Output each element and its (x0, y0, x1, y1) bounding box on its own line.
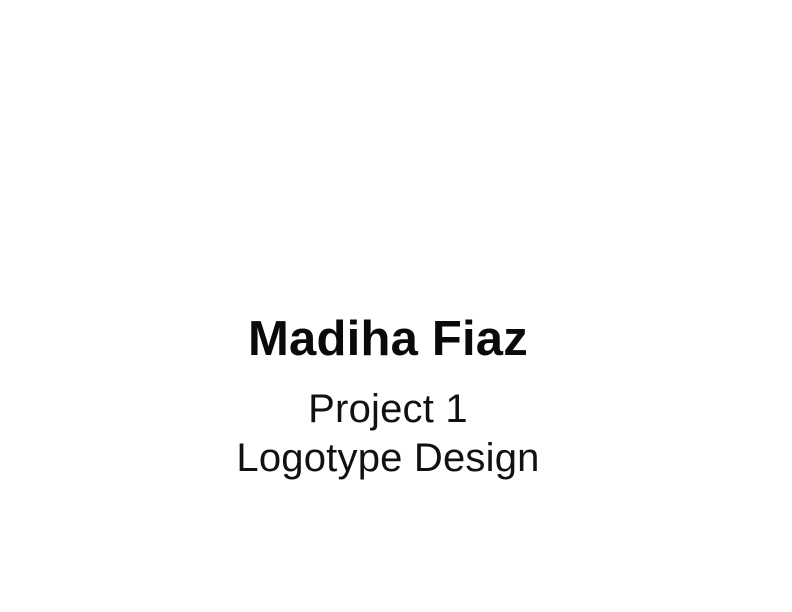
slide-canvas: Madiha Fiaz Project 1 Logotype Design (0, 0, 792, 612)
title-block: Madiha Fiaz Project 1 Logotype Design (0, 0, 776, 612)
slide-subtitle: Project 1 Logotype Design (0, 385, 776, 483)
subtitle-line-project: Project 1 (0, 385, 776, 434)
page-title: Madiha Fiaz (0, 312, 776, 366)
subtitle-line-topic: Logotype Design (0, 434, 776, 483)
